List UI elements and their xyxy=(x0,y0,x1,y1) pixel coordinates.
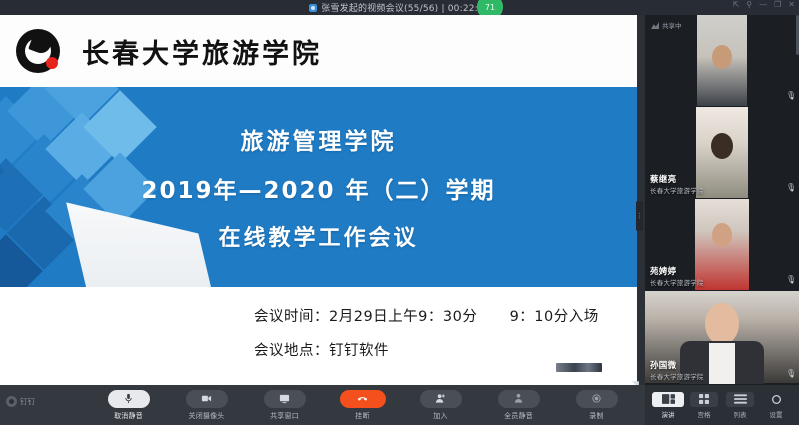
sharing-label: 共享中 xyxy=(662,20,682,30)
microphone-icon xyxy=(108,390,150,408)
grid-view-label: 宫格 xyxy=(698,409,711,419)
dingtalk-meeting-window: 张雪发起的视频会议(55/56) | 00:22:16 71 ⇱ ⚲ — ❐ ✕… xyxy=(0,0,799,425)
participant-video xyxy=(696,107,748,199)
hangup-button[interactable]: 挂断 xyxy=(336,390,390,421)
add-person-button[interactable]: 加入 xyxy=(414,390,468,421)
window-title: 张雪发起的视频会议(55/56) | 00:22:16 xyxy=(321,1,490,14)
slide-heading: 在线教学工作会议 xyxy=(218,220,418,252)
avatar xyxy=(712,223,732,247)
maximize-icon[interactable]: ❐ xyxy=(774,1,781,9)
record-button[interactable]: 录制 xyxy=(570,390,624,421)
slide-header: 长春大学旅游学院 xyxy=(0,15,637,87)
list-view-icon xyxy=(726,392,754,407)
presentation-slide: 长春大学旅游学院 xyxy=(0,15,637,385)
avatar xyxy=(705,303,739,345)
shared-screen-stage[interactable]: 长春大学旅游学院 xyxy=(0,15,645,385)
settings-button[interactable]: 设置 xyxy=(760,392,792,419)
unmute-label: 取消静音 xyxy=(114,411,143,421)
participant-org: 长春大学旅游学院 xyxy=(650,371,704,381)
grid-view-icon xyxy=(690,392,718,407)
camera-icon xyxy=(186,390,228,408)
share-window-label: 共享窗口 xyxy=(270,411,299,421)
slide-title: 旅游管理学院 xyxy=(241,122,397,156)
participant-tile[interactable]: 孙国微 长春大学旅游学院 🎙 xyxy=(645,291,799,385)
hangup-label: 挂断 xyxy=(355,411,369,421)
dingtalk-brand-label: 钉钉 xyxy=(20,396,35,407)
speaker-view-label: 演讲 xyxy=(662,409,675,419)
list-view-label: 列表 xyxy=(734,409,747,419)
mic-icon: 🎙 xyxy=(786,369,794,379)
list-view-button[interactable]: 列表 xyxy=(724,392,756,419)
avatar xyxy=(711,133,733,159)
avatar xyxy=(712,45,732,69)
dingtalk-brand: 钉钉 xyxy=(6,396,35,407)
participant-org: 长春大学旅游学院 xyxy=(650,185,704,195)
mute-all-button[interactable]: 全员静音 xyxy=(492,390,546,421)
slide-progress-bar xyxy=(556,363,602,372)
slide-subtitle: 2019年—2020 年（二）学期 xyxy=(141,171,495,205)
settings-icon xyxy=(762,392,790,407)
close-icon[interactable]: ✕ xyxy=(788,1,795,9)
dingtalk-logo-icon xyxy=(6,396,17,407)
participant-tile[interactable]: 蔡继亮 长春大学旅游学院 🎙 xyxy=(645,107,799,199)
record-label: 录制 xyxy=(589,411,603,421)
participant-video xyxy=(697,15,747,107)
title-wrap: 张雪发起的视频会议(55/56) | 00:22:16 xyxy=(309,1,490,14)
pin-window-icon[interactable]: ⚲ xyxy=(746,1,752,9)
camera-label: 关闭摄像头 xyxy=(189,411,225,421)
share-window-button[interactable]: 共享窗口 xyxy=(258,390,312,421)
meeting-control-bar: 取消静音 关闭摄像头 共享窗口 挂断 加入 xyxy=(0,385,645,425)
speaker-view-icon xyxy=(652,392,684,407)
screen-share-icon xyxy=(651,21,659,29)
slide-banner: 旅游管理学院 2019年—2020 年（二）学期 在线教学工作会议 xyxy=(0,87,637,287)
video-meeting-icon xyxy=(309,4,317,12)
slide-text-block: 旅游管理学院 2019年—2020 年（二）学期 在线教学工作会议 xyxy=(0,87,637,287)
window-controls: ⇱ ⚲ — ❐ ✕ xyxy=(733,1,795,9)
collapse-panel-handle[interactable]: ⋮ xyxy=(636,201,643,231)
add-person-icon xyxy=(420,390,462,408)
sharing-indicator: 共享中 xyxy=(651,20,682,30)
window-titlebar: 张雪发起的视频会议(55/56) | 00:22:16 xyxy=(0,0,799,15)
meeting-time-note: 9：10分入场 xyxy=(510,309,599,325)
share-screen-icon xyxy=(264,390,306,408)
participant-name: 孙国微 xyxy=(650,359,676,371)
meeting-time-row: 会议时间：2月29日上午9：30分 9：10分入场 xyxy=(254,305,637,326)
school-name: 长春大学旅游学院 xyxy=(82,32,322,71)
hangup-icon xyxy=(340,390,386,408)
participant-tile[interactable]: 共享中 🎙 xyxy=(645,15,799,107)
participant-org: 长春大学旅游学院 xyxy=(650,277,704,287)
participant-tile[interactable]: 苑娉婷 长春大学旅游学院 🎙 xyxy=(645,199,799,291)
meeting-place: 会议地点：钉钉软件 xyxy=(254,339,637,360)
avatar-shirt xyxy=(709,343,735,385)
unmute-button[interactable]: 取消静音 xyxy=(102,390,156,421)
record-icon xyxy=(576,390,618,408)
settings-label: 设置 xyxy=(770,409,783,419)
participant-name: 蔡继亮 xyxy=(650,173,676,185)
share-window-icon[interactable]: ⇱ xyxy=(733,1,740,9)
slide-footer: 会议时间：2月29日上午9：30分 9：10分入场 会议地点：钉钉软件 xyxy=(0,287,637,385)
mute-all-icon xyxy=(498,390,540,408)
meeting-time-label: 会议时间：2月29日上午9：30分 xyxy=(254,309,477,325)
mic-icon: 🎙 xyxy=(786,183,794,193)
stage-right-strip xyxy=(637,15,645,385)
grid-view-button[interactable]: 宫格 xyxy=(688,392,720,419)
camera-button[interactable]: 关闭摄像头 xyxy=(180,390,234,421)
changchun-university-logo-icon xyxy=(16,29,64,73)
add-person-label: 加入 xyxy=(433,411,447,421)
minimize-icon[interactable]: — xyxy=(759,1,767,9)
mic-icon: 🎙 xyxy=(786,275,794,285)
mute-all-label: 全员静音 xyxy=(504,411,533,421)
participant-name: 苑娉婷 xyxy=(650,265,676,277)
view-switch-bar: 演讲 宫格 列表 设置 xyxy=(645,385,799,425)
speaker-view-button[interactable]: 演讲 xyxy=(652,392,684,419)
participant-rail[interactable]: 共享中 🎙 蔡继亮 长春大学旅游学院 🎙 苑娉婷 长春大学旅游学院 🎙 xyxy=(645,15,799,385)
mic-icon: 🎙 xyxy=(786,91,794,101)
